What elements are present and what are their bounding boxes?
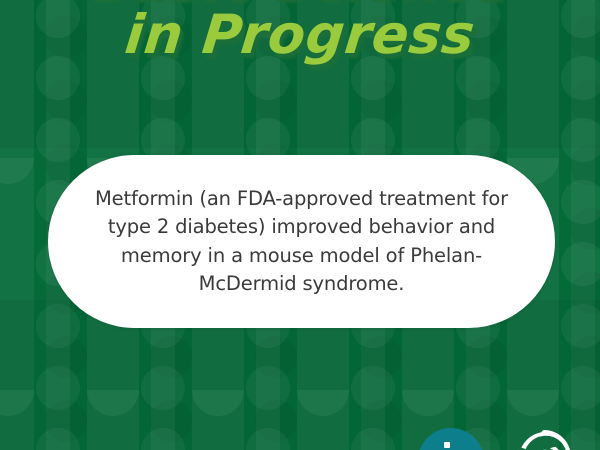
teal-circle-logo-mark bbox=[444, 442, 450, 448]
fact-card: Metformin (an FDA-approved treatment for… bbox=[48, 155, 555, 328]
social-graphic-canvas: Basic Science in Progress Metformin (an … bbox=[0, 0, 600, 450]
fact-card-body-text: Metformin (an FDA-approved treatment for… bbox=[87, 185, 517, 297]
white-swirl-logo bbox=[508, 422, 580, 450]
